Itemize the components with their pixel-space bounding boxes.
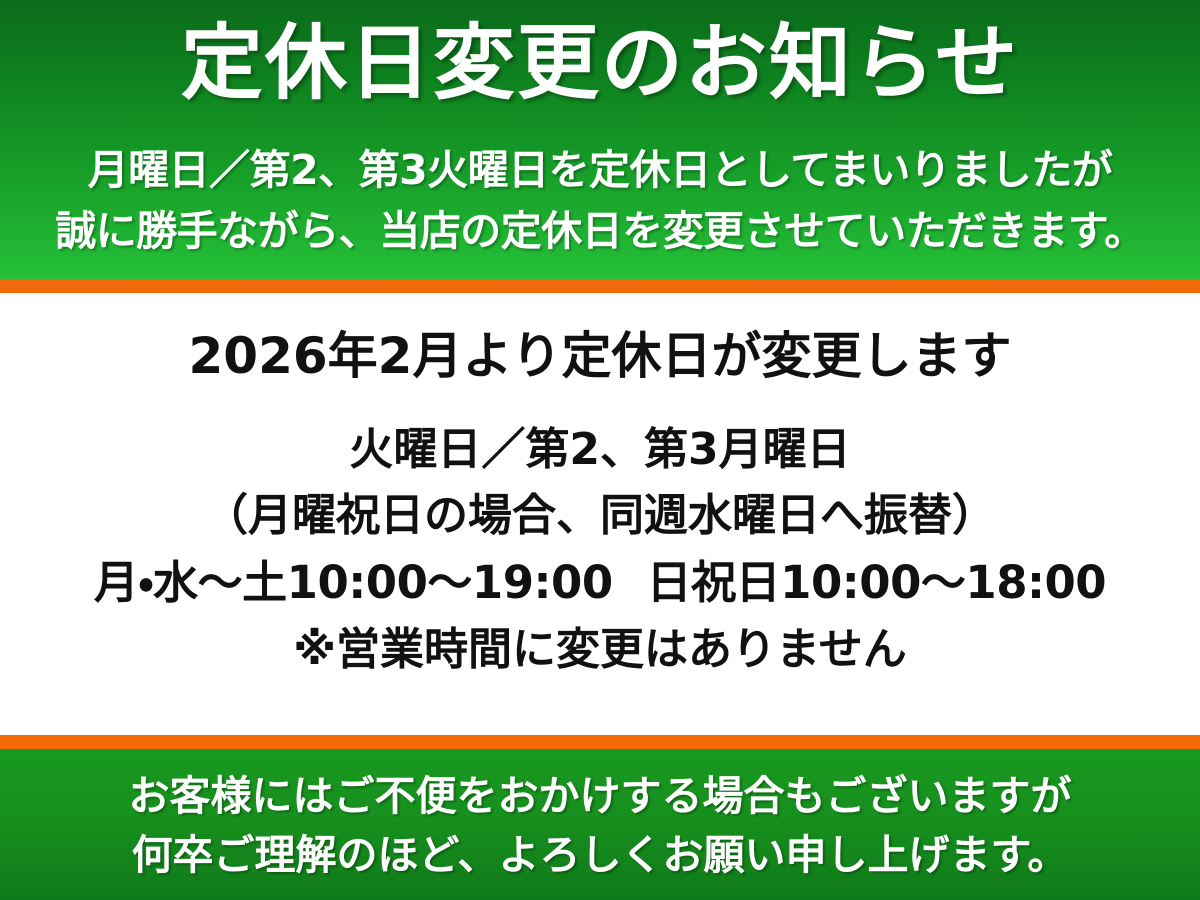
footer-line-1: お客様にはご不便をおかけする場合もございますが	[0, 767, 1200, 826]
closed-days-line: 火曜日／第2、第3月曜日	[0, 417, 1200, 483]
header-banner: 定休日変更のお知らせ 月曜日／第2、第3火曜日を定休日としてまいりましたが 誠に…	[0, 0, 1200, 279]
page-title: 定休日変更のお知らせ	[0, 16, 1200, 113]
footer-text: お客様にはご不便をおかけする場合もございますが 何卒ご理解のほど、よろしくお願い…	[0, 767, 1200, 886]
business-hours-weekday: 月・水～土10:00～19:00	[94, 556, 613, 609]
main-details: 火曜日／第2、第3月曜日 （月曜祝日の場合、同週水曜日へ振替） 月・水～土10:…	[0, 417, 1200, 683]
holiday-substitution-note: （月曜祝日の場合、同週水曜日へ振替）	[0, 483, 1200, 549]
main-heading: 2026年2月より定休日が変更します	[0, 326, 1200, 386]
header-subtext-line-1: 月曜日／第2、第3火曜日を定休日としてまいりましたが	[0, 140, 1200, 201]
divider-orange-bottom	[0, 735, 1200, 749]
footer-banner: お客様にはご不便をおかけする場合もございますが 何卒ご理解のほど、よろしくお願い…	[0, 749, 1200, 900]
footer-line-2: 何卒ご理解のほど、よろしくお願い申し上げます。	[0, 826, 1200, 885]
divider-orange-top	[0, 279, 1200, 293]
header-subtext: 月曜日／第2、第3火曜日を定休日としてまいりましたが 誠に勝手ながら、当店の定休…	[0, 140, 1200, 261]
business-hours-sunday: 日祝日10:00～18:00	[647, 556, 1106, 609]
main-content: 2026年2月より定休日が変更します 火曜日／第2、第3月曜日 （月曜祝日の場合…	[0, 293, 1200, 735]
business-hours-line: 月・水～土10:00～19:00日祝日10:00～18:00	[0, 549, 1200, 617]
notice-poster: 定休日変更のお知らせ 月曜日／第2、第3火曜日を定休日としてまいりましたが 誠に…	[0, 0, 1200, 900]
header-subtext-line-2: 誠に勝手ながら、当店の定休日を変更させていただきます。	[0, 201, 1200, 262]
hours-unchanged-note: ※営業時間に変更はありません	[0, 617, 1200, 683]
